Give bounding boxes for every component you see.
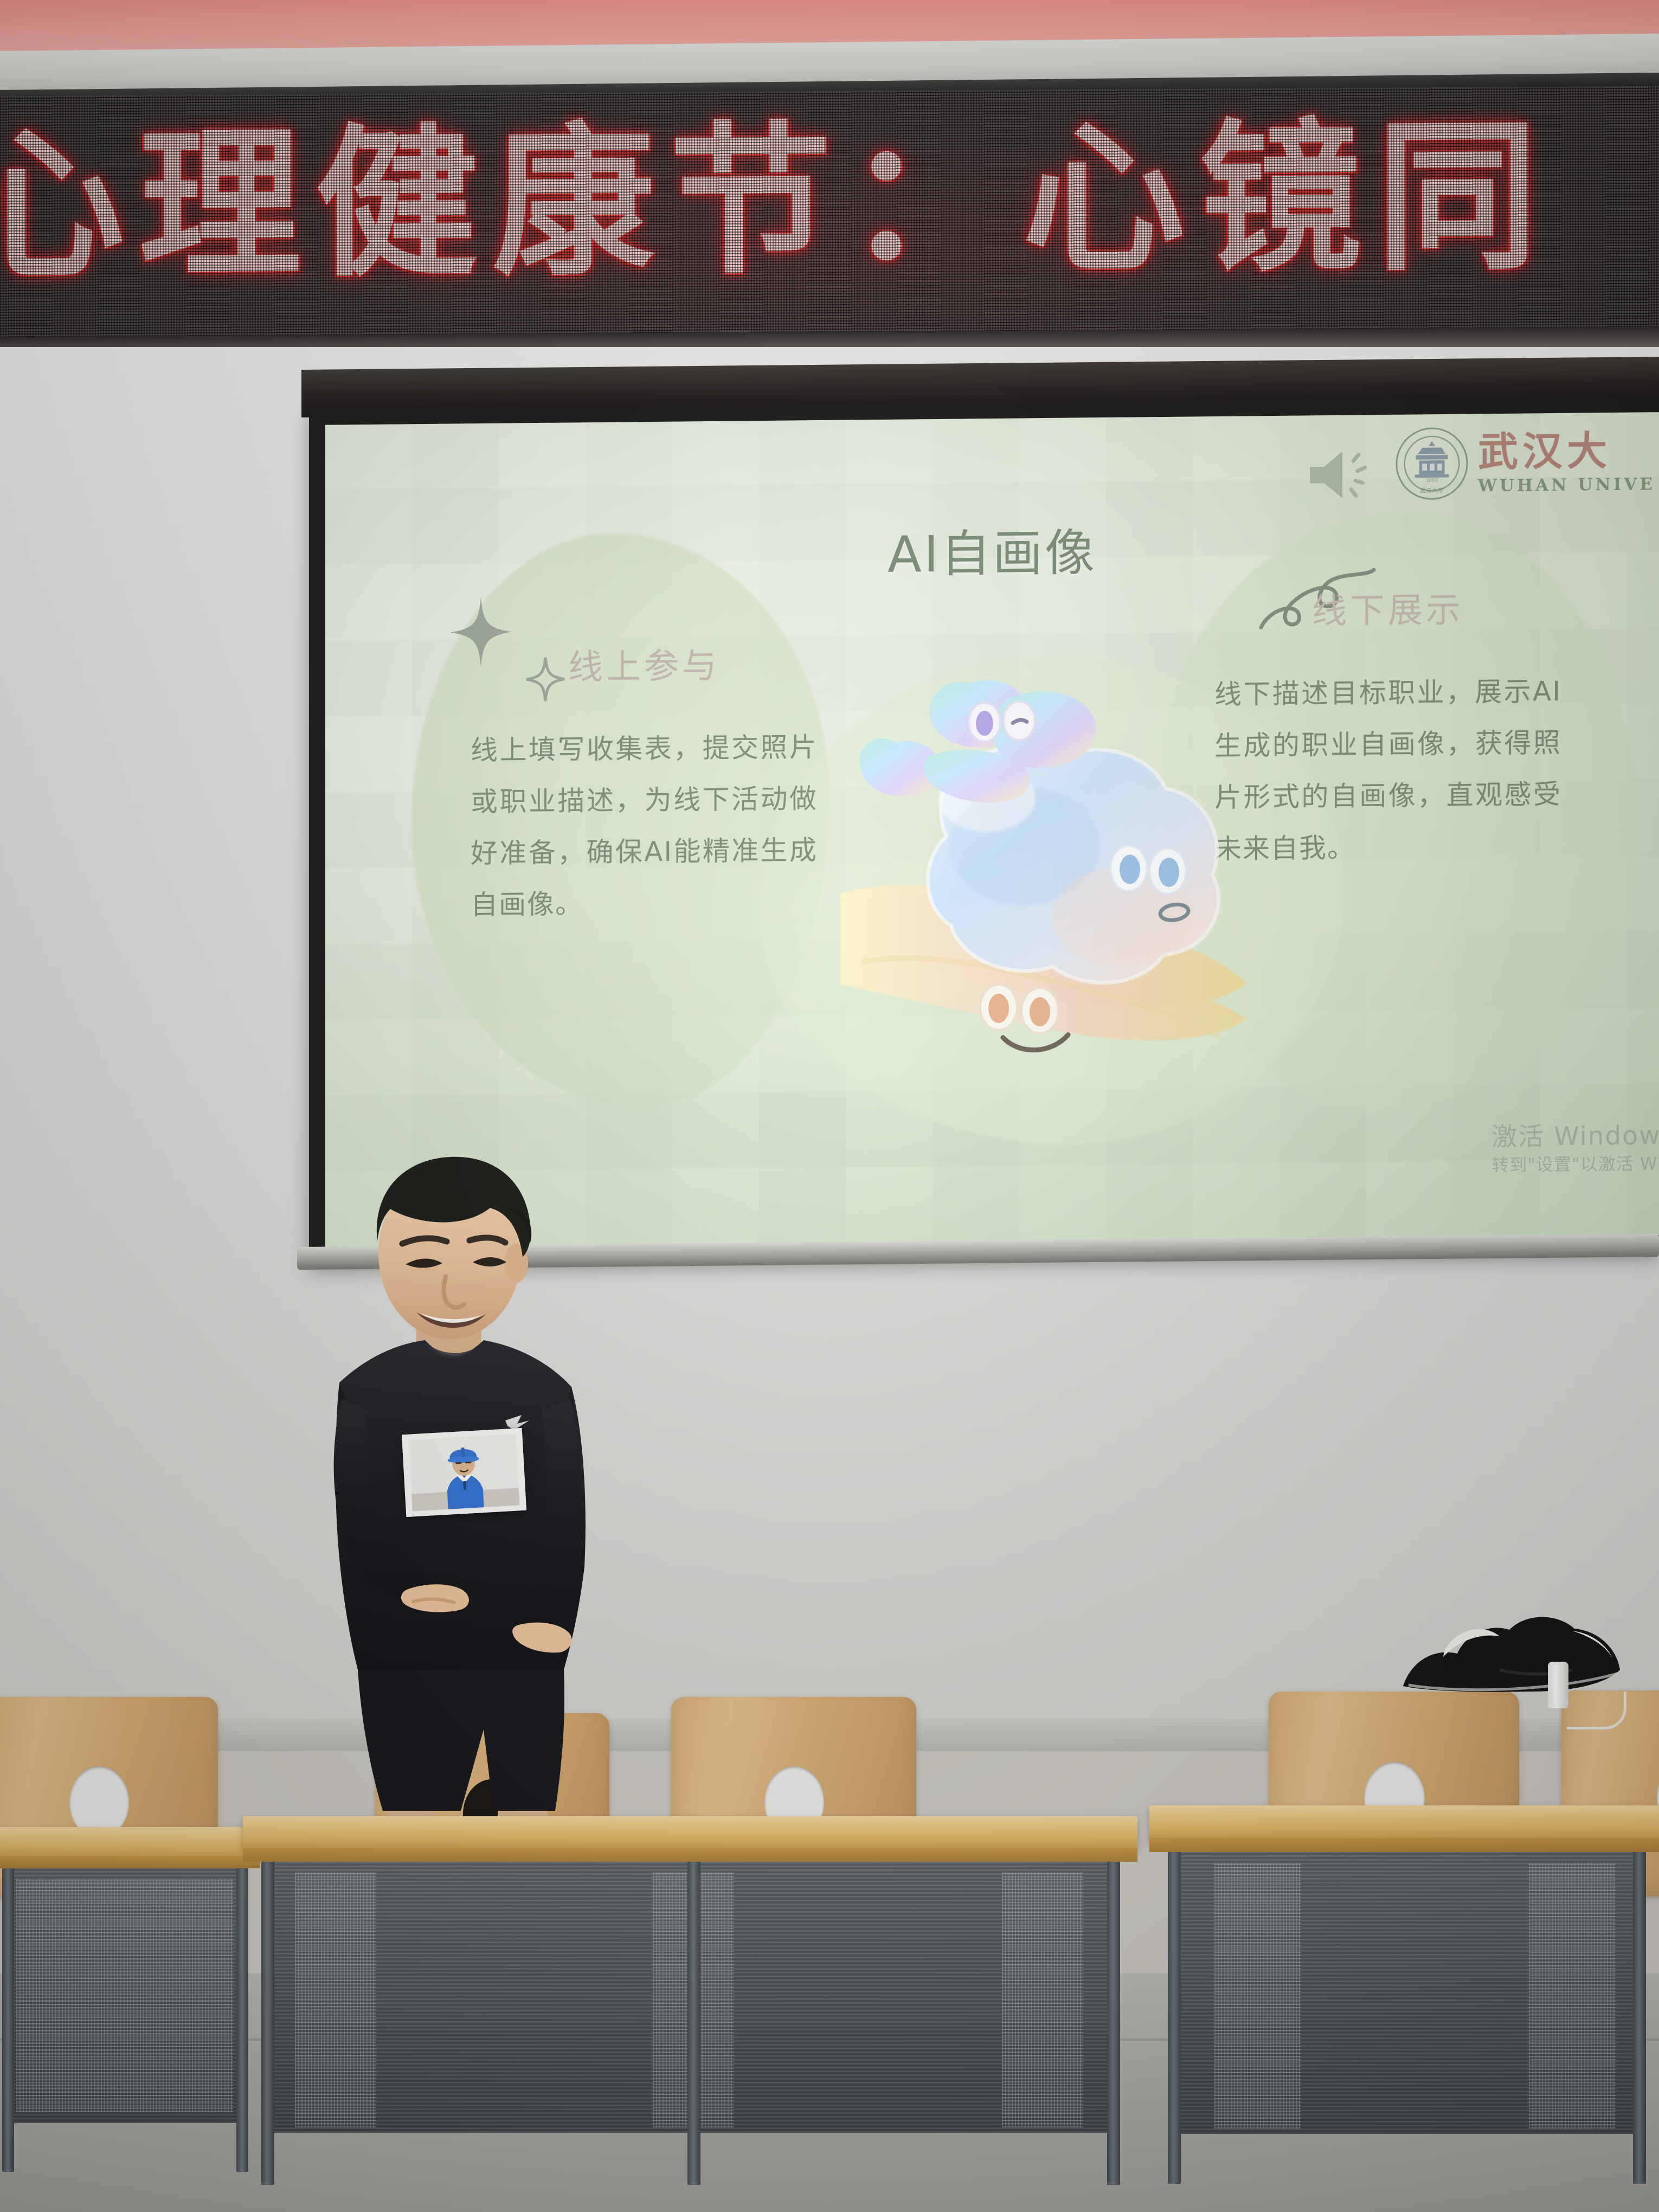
whu-chinese-name: 武汉大: [1478, 429, 1655, 474]
slide-column-online: 线上参与 线上填写收集表，提交照片或职业描述，为线下活动做好准备，确保AI能精准…: [471, 637, 818, 931]
slide-title: AI自画像: [325, 507, 1659, 592]
column-body-offline: 线下描述目标职业，展示AI生成的职业自画像，获得照片形式的自画像，直观感受未来自…: [1214, 666, 1561, 875]
held-photo-print: [402, 1428, 526, 1517]
whu-english-name: WUHAN UNIVE: [1478, 474, 1655, 496]
watermark-line-1: 激活 Windows: [1491, 1120, 1659, 1153]
column-body-online: 线上填写收集表，提交照片或职业描述，为线下活动做好准备，确保AI能精准生成自画像…: [471, 722, 818, 931]
column-heading-online: 线上参与: [471, 637, 818, 690]
desk-row-center[interactable]: [243, 1816, 1143, 2185]
whu-seal-icon: 1893 武汉大学: [1394, 426, 1469, 501]
column-heading-offline: 线下展示: [1214, 581, 1561, 634]
black-jacket[interactable]: [1393, 1589, 1632, 1697]
slide-column-offline: 线下展示 线下描述目标职业，展示AI生成的职业自画像，获得照片形式的自画像，直观…: [1214, 581, 1561, 875]
led-scrolling-banner: 心理健康节：心镜同: [0, 86, 1659, 346]
cloud-character-illustration: [840, 611, 1252, 1092]
desk-row-right[interactable]: [1149, 1805, 1659, 2185]
white-cord: [1567, 1692, 1626, 1729]
classroom-photo-scene: 心理健康节：心镜同: [0, 0, 1659, 2212]
desk-row-left[interactable]: [0, 1827, 266, 2174]
windows-activation-watermark: 激活 Windows 转到"设置"以激活 Wi: [1491, 1120, 1659, 1177]
svg-text:1893: 1893: [1426, 478, 1438, 484]
presentation-slide: 1893 武汉大学 武汉大 WUHAN UNIVE AI自画像: [325, 412, 1659, 1248]
led-banner-text: 心理健康节：心镜同: [0, 105, 1553, 299]
wuhan-university-logo: 1893 武汉大学 武汉大 WUHAN UNIVE: [1394, 424, 1655, 501]
watermark-line-2: 转到"设置"以激活 Wi: [1491, 1152, 1659, 1177]
photo-of-worker: [402, 1428, 526, 1517]
svg-text:武汉大学: 武汉大学: [1420, 486, 1443, 494]
white-bottle[interactable]: [1548, 1662, 1568, 1708]
speaker-icon: [1301, 445, 1382, 507]
